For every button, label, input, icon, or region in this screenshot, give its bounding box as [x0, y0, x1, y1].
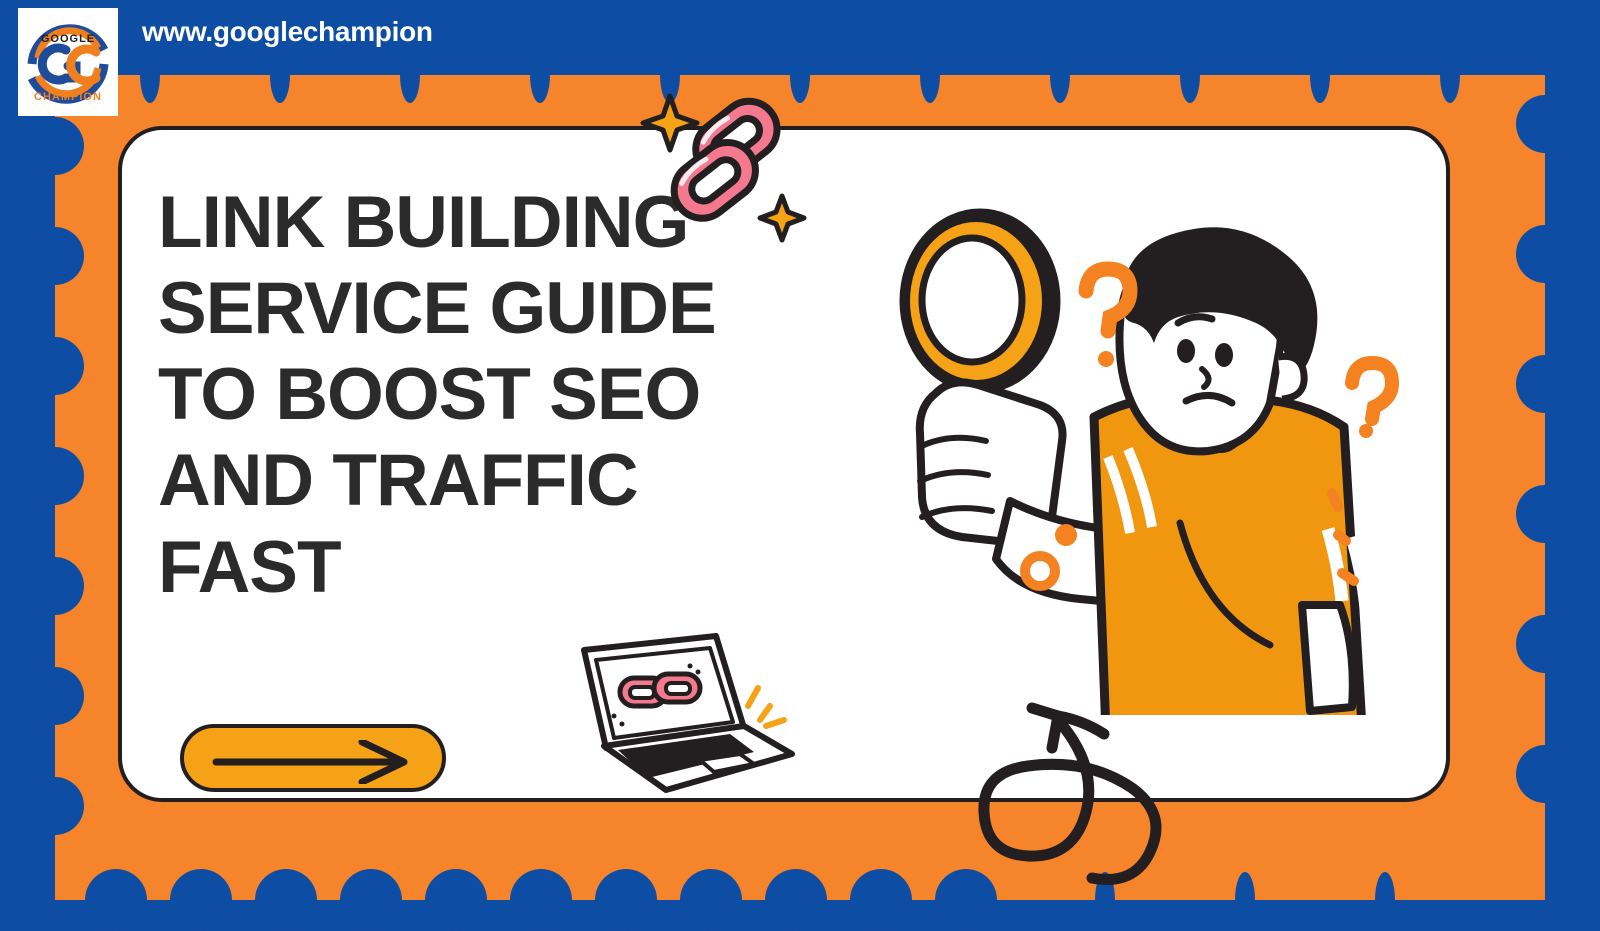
frame-notch-top: [920, 75, 940, 103]
frame-scallop-left: [26, 667, 84, 725]
frame-scallop-right: [1516, 615, 1574, 673]
motion-lines: [748, 688, 784, 726]
headline-line: AND TRAFFIC: [158, 438, 778, 524]
cta-arrow-button[interactable]: [180, 724, 446, 792]
pink-chain-link-icon: [620, 674, 700, 706]
frame-notch-top: [140, 75, 160, 103]
frame-scallop-bottom: [510, 869, 572, 931]
frame-notch-bottom: [1375, 872, 1395, 900]
logo-top-text: GOOGLE: [41, 33, 95, 45]
frame-scallop-bottom: [850, 869, 912, 931]
accent-dot: [1055, 524, 1077, 546]
arrow-right-icon: [212, 740, 422, 784]
logo-bottom-text: CHAMPION: [34, 91, 102, 103]
headline-line: SERVICE GUIDE: [158, 266, 778, 352]
frame-scallop-right: [1516, 485, 1574, 543]
frame-notch-top: [1050, 75, 1070, 103]
frame-notch-top: [400, 75, 420, 103]
chain-link-illustration: [640, 84, 820, 249]
frame-scallop-right: [1516, 355, 1574, 413]
frame-scallop-left: [26, 337, 84, 395]
frame-scallop-right: [1516, 95, 1574, 153]
frame-scallop-bottom: [255, 869, 317, 931]
frame-notch-top: [1310, 75, 1330, 103]
frame-notch-top: [1180, 75, 1200, 103]
orange-sparkle-icon: [643, 96, 697, 150]
frame-notch-top: [270, 75, 290, 103]
orange-question-mark-icon: [1352, 363, 1392, 419]
laptop-illustration: [548, 608, 808, 813]
header-bar: GOOGLE CHAMPION www.googlechampion: [0, 0, 1600, 78]
frame-scallop-right: [1516, 225, 1574, 283]
frame-scallop-left: [26, 447, 84, 505]
frame-scallop-bottom: [425, 869, 487, 931]
curved-arrow-icon: [984, 708, 1156, 880]
frame-scallop-bottom: [340, 869, 402, 931]
frame-scallop-left: [26, 557, 84, 615]
frame-notch-top: [1440, 75, 1460, 103]
site-url-label: www.googlechampion: [142, 16, 433, 48]
curved-arrow-illustration: [960, 690, 1260, 915]
frame-scallop-bottom: [765, 869, 827, 931]
frame-scallop-right: [1516, 745, 1574, 803]
frame-scallop-bottom: [85, 869, 147, 931]
frame-notch-top: [530, 75, 550, 103]
headline-line: FAST: [158, 525, 778, 611]
frame-scallop-left: [26, 117, 84, 175]
headline-line: TO BOOST SEO: [158, 352, 778, 438]
magnifying-glass-icon: [904, 213, 1056, 411]
accent-dot: [1098, 351, 1114, 367]
orange-sparkle-icon: [760, 196, 804, 240]
frame-scallop-bottom: [680, 869, 742, 931]
poster-canvas: LINK BUILDING SERVICE GUIDE TO BOOST SEO…: [0, 0, 1600, 900]
frame-scallop-bottom: [170, 869, 232, 931]
frame-scallop-left: [26, 227, 84, 285]
frame-scallop-left: [26, 777, 84, 835]
person-illustration: [880, 205, 1400, 720]
brand-logo[interactable]: GOOGLE CHAMPION: [18, 8, 118, 116]
frame-scallop-bottom: [595, 869, 657, 931]
accent-dot: [1359, 424, 1373, 438]
